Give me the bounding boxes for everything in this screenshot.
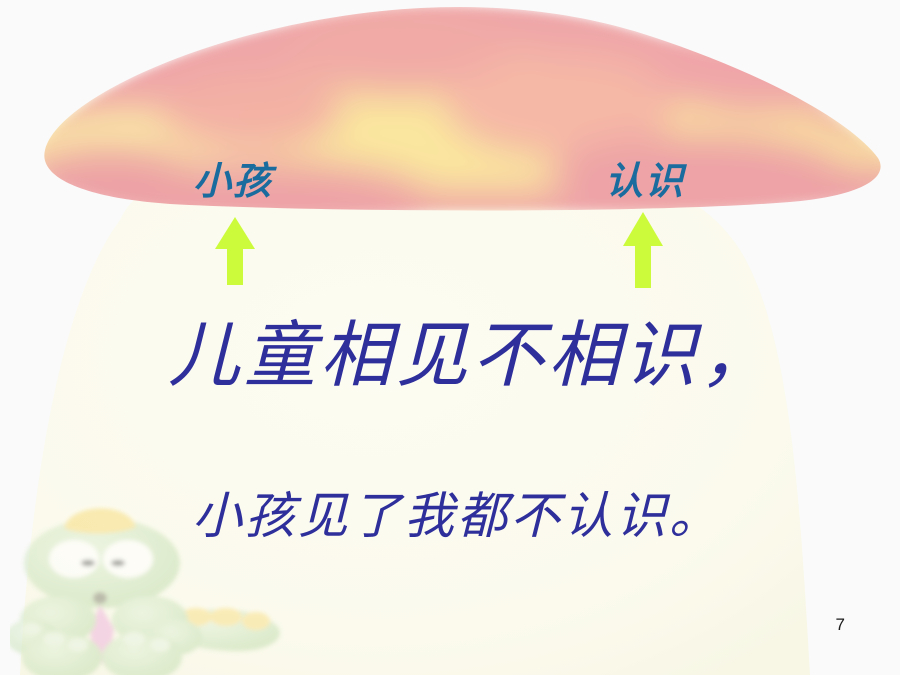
up-arrow-icon-xiaohai	[205, 215, 265, 287]
poem-line-original: 儿童相见不相识，	[168, 296, 776, 401]
up-arrow-icon-renshi	[615, 210, 675, 290]
slide-canvas: 小孩 认识 儿童相见不相识， 小孩见了我都不认识。	[0, 0, 900, 675]
vocab-label-renshi: 认识	[605, 150, 685, 205]
page-number: 7	[836, 615, 845, 635]
green-dinosaur-mascot	[10, 495, 300, 675]
vocab-label-xiaohai: 小孩	[193, 150, 273, 205]
